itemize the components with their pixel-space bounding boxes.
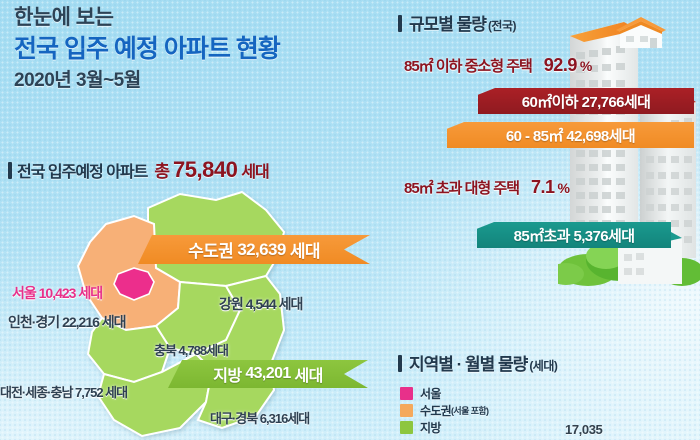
total-unit: 세대 (241, 158, 268, 182)
row-value: 27,766세대 (582, 91, 651, 112)
map-banner-jibang: 지방 43,201 세대 (168, 360, 368, 388)
size-large-heading: 85㎡ 초과 대형 주택 7.1 % (404, 177, 570, 198)
infographic-root: 한눈에 보는 전국 입주 예정 아파트 현황 2020년 3월~5월 전국 입주… (0, 0, 700, 440)
korea-map: 수도권 32,639 세대 지방 43,201 세대 서울 10,423 세대 … (30, 190, 370, 440)
legend-item-sudogwon: 수도권 (서울 포함) (400, 402, 488, 419)
row-label: 85㎡초과 (514, 225, 570, 246)
size-row-under-60: 60㎡이하 27,766세대 (478, 88, 694, 114)
house-icon (610, 12, 672, 52)
banner-name: 지방 (213, 362, 241, 386)
map-banner-sudogwon: 수도권 32,639 세대 (138, 235, 370, 264)
size-small-percent: 92.9 (544, 55, 577, 76)
legend-label-seoul: 서울 (420, 385, 441, 402)
legend-item-jibang: 지방 (400, 419, 488, 436)
map-label-gangwon: 강원 4,544 세대 (219, 294, 302, 314)
size-title-sub: (전국) (488, 17, 516, 34)
legend-note-sudogwon: (서울 포함) (451, 404, 488, 417)
banner-unit: 세대 (295, 362, 323, 386)
total-value: 75,840 (173, 157, 237, 183)
size-large-percent-symbol: % (558, 180, 570, 196)
legend-swatch-jibang (400, 421, 413, 434)
accent-bar-icon (398, 355, 402, 372)
total-summary: 전국 입주예정 아파트 총 75,840 세대 (8, 157, 269, 183)
chart-panel-title: 지역별 · 월별 물량 (세대) (398, 350, 557, 375)
map-label-seoul: 서울 10,423 세대 (12, 283, 102, 303)
chart-legend: 서울 수도권 (서울 포함) 지방 (400, 385, 488, 436)
banner-name: 수도권 (188, 237, 233, 262)
legend-item-seoul: 서울 (400, 385, 488, 402)
row-label: 60㎡이하 (522, 91, 578, 112)
size-large-label: 85㎡ 초과 대형 주택 (404, 177, 519, 198)
page-title: 전국 입주 예정 아파트 현황 (14, 33, 386, 66)
accent-bar-icon (8, 162, 12, 179)
row-label: 60 - 85㎡ (506, 125, 563, 146)
total-label: 전국 입주예정 아파트 (17, 158, 147, 182)
legend-swatch-sudogwon (400, 404, 413, 417)
chart-data-label: 17,035 (565, 422, 602, 437)
legend-label-sudogwon: 수도권 (420, 402, 451, 419)
chart-title-main: 지역별 · 월별 물량 (409, 350, 527, 375)
header-period: 2020년 3월~5월 (14, 68, 386, 94)
size-small-heading: 85㎡ 이하 중소형 주택 92.9 % (404, 55, 592, 76)
size-title-main: 규모별 물량 (409, 10, 486, 35)
page-header: 한눈에 보는 전국 입주 예정 아파트 현황 2020년 3월~5월 (14, 4, 386, 93)
banner-unit: 세대 (290, 237, 320, 262)
size-small-label: 85㎡ 이하 중소형 주택 (404, 55, 532, 76)
size-small-percent-symbol: % (580, 58, 592, 74)
size-panel-title: 규모별 물량 (전국) (398, 10, 516, 35)
header-line-1: 한눈에 보는 (14, 4, 386, 32)
map-label-daegu-gyeongbuk: 대구·경북 6,316세대 (210, 408, 309, 427)
size-row-60-to-85: 60 - 85㎡ 42,698세대 (447, 122, 694, 148)
total-prefix: 총 (154, 157, 169, 182)
row-value: 42,698세대 (566, 125, 635, 146)
legend-label-jibang: 지방 (420, 419, 441, 436)
banner-value: 43,201 (245, 365, 290, 383)
chart-title-sub: (세대) (529, 357, 557, 374)
size-large-percent: 7.1 (531, 177, 555, 198)
row-value: 5,376세대 (573, 225, 634, 246)
accent-bar-icon (398, 15, 402, 32)
map-label-chungbuk: 충북 4,788세대 (154, 340, 228, 359)
banner-value: 32,639 (237, 240, 285, 260)
map-label-incheon-gyeonggi: 인천·경기 22,216 세대 (8, 312, 126, 332)
map-label-daejeon-sejong-chungnam: 대전·세종·충남 7,752 세대 (0, 382, 127, 401)
size-row-over-85: 85㎡초과 5,376세대 (477, 222, 671, 248)
legend-swatch-seoul (400, 387, 413, 400)
